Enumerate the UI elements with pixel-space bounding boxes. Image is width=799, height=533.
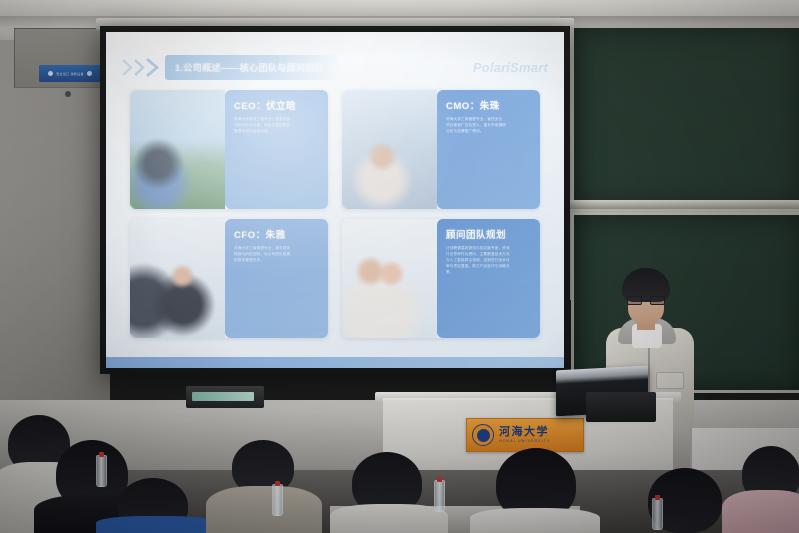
audience-body: [206, 486, 322, 533]
team-card: CEO：伏立晗 河海大学物流工程专业，现多次参 加科创创业大赛，具备丰富的项目 …: [130, 90, 328, 209]
cfo-info-panel: CFO：朱雅 河海大学工商管理专业，擅长财务 核算与风险控制，为公司提供稳健 的…: [225, 219, 328, 338]
slide-title-pill: 1.公司概述——核心团队与顾问团队: [165, 55, 340, 80]
slide-footer-bar: [106, 357, 564, 368]
wall-box-button[interactable]: [65, 91, 71, 97]
card-body-line: 策。: [446, 270, 533, 276]
slide-title-row: 1.公司概述——核心团队与顾问团队 PolariSmart: [122, 54, 548, 80]
card-body: 河海大学工商管理专业，擅长财务 核算与风险控制，为公司提供稳健 的财务管理支持。: [234, 246, 321, 264]
wall-equipment-box: 安全出口 消防设备: [14, 28, 104, 88]
plaque-chinese-name: 河海大学: [499, 427, 551, 438]
team-card: 顾问团队规划 计划聘请高校物流与供应链专家、资深 行业导师作为顾问，主要覆盖技术…: [342, 219, 540, 338]
water-bottle: [434, 480, 445, 512]
eyeglasses-icon: [627, 296, 665, 305]
card-heading: 顾问团队规划: [446, 227, 533, 241]
card-heading: CMO：朱珠: [446, 98, 533, 112]
card-body: 河海大学工商管理专业，曾任多企 项目营销广告负责人，擅长市场调研 分析与品牌推广…: [446, 117, 533, 135]
ceo-portrait-photo: [130, 90, 225, 209]
sign-icon: [48, 71, 53, 76]
cmo-info-panel: CMO：朱珠 河海大学工商管理专业，曾任多企 项目营销广告负责人，擅长市场调研 …: [437, 90, 540, 209]
lecture-hall-scene: 安全出口 消防设备 1.公司概述——核心团队与顾问团队 PolariSmart: [0, 0, 799, 533]
team-card: CFO：朱雅 河海大学工商管理专业，擅长财务 核算与风险控制，为公司提供稳健 的…: [130, 219, 328, 338]
advisory-info-panel: 顾问团队规划 计划聘请高校物流与供应链专家、资深 行业导师作为顾问，主要覆盖技术…: [437, 219, 540, 338]
podium-equipment: [586, 392, 656, 422]
chalk-tray: [565, 200, 799, 209]
av-control-unit[interactable]: [186, 386, 264, 408]
chevron-right-icon: [122, 58, 159, 77]
card-heading: CEO：伏立晗: [234, 98, 321, 112]
water-bottle: [96, 455, 107, 487]
card-heading: CFO：朱雅: [234, 227, 321, 241]
wall-sign-label: 安全出口 消防设备: [56, 72, 84, 76]
university-plaque: 河海大学 HOHAI UNIVERSITY: [466, 418, 584, 452]
card-body-line: 分析与品牌推广策划。: [446, 129, 533, 135]
university-seal-icon: [472, 424, 494, 446]
av-control-display: [192, 392, 254, 401]
slide-title: 1.公司概述——核心团队与顾问团队: [175, 63, 324, 73]
card-body: 计划聘请高校物流与供应链专家、资深 行业导师作为顾问，主要覆盖技术方向 与人工智…: [446, 246, 533, 276]
audience-body: [96, 516, 216, 533]
sign-icon: [87, 71, 92, 76]
emergency-sign: 安全出口 消防设备: [39, 65, 101, 82]
audience-body: [330, 504, 448, 533]
team-card: CMO：朱珠 河海大学工商管理专业，曾任多企 项目营销广告负责人，擅长市场调研 …: [342, 90, 540, 209]
water-bottle: [652, 498, 663, 530]
card-body-line: 管理与创业运营经验。: [234, 129, 321, 135]
audience-body: [722, 490, 799, 533]
presentation-slide: 1.公司概述——核心团队与顾问团队 PolariSmart CEO：伏立晗 河海…: [106, 32, 564, 368]
cfo-portrait-photo: [130, 219, 225, 338]
card-body: 河海大学物流工程专业，现多次参 加科创创业大赛，具备丰富的项目 管理与创业运营经…: [234, 117, 321, 135]
team-card-grid: CEO：伏立晗 河海大学物流工程专业，现多次参 加科创创业大赛，具备丰富的项目 …: [130, 90, 540, 338]
card-body-line: 的财务管理支持。: [234, 258, 321, 264]
chalkboard-upper-panel: [571, 25, 799, 211]
advisory-team-photo: [342, 219, 437, 338]
plaque-english-name: HOHAI UNIVERSITY: [499, 440, 551, 444]
ceo-info-panel: CEO：伏立晗 河海大学物流工程专业，现多次参 加科创创业大赛，具备丰富的项目 …: [225, 90, 328, 209]
brand-logo: PolariSmart: [473, 60, 548, 75]
cmo-portrait-photo: [342, 90, 437, 209]
water-bottle: [272, 484, 283, 516]
projection-screen: 1.公司概述——核心团队与顾问团队 PolariSmart CEO：伏立晗 河海…: [100, 26, 570, 374]
ceiling-light-strip: [0, 0, 799, 16]
audience-body: [470, 508, 600, 533]
jacket-pocket: [656, 372, 684, 389]
